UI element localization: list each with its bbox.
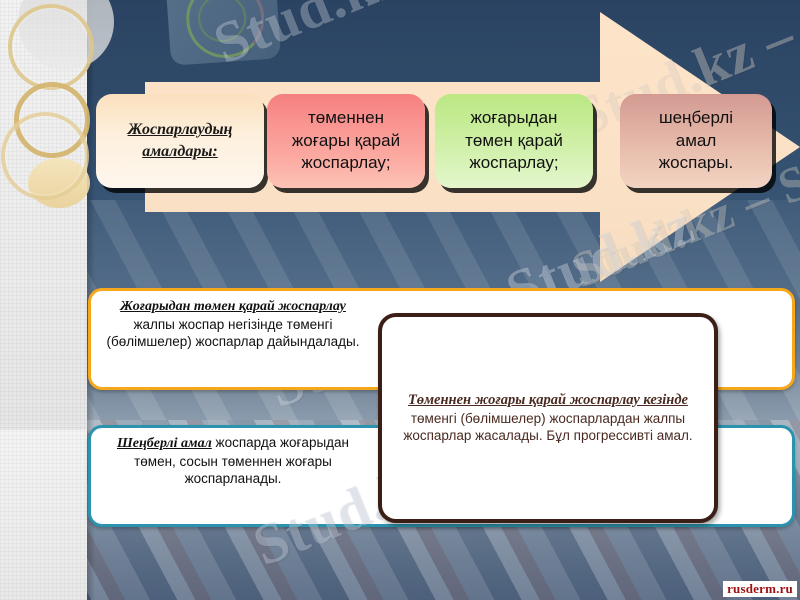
top-box-planning-methods-title[interactable]: Жоспарлаудыңамалдары: [96,94,264,188]
top-box-label: жоғарыдантөмен қарайжоспарлау; [443,107,585,174]
top-box-circular-planning[interactable]: шеңберліамалжоспары. [620,94,772,188]
panel-lead-term: Төменнен жоғары қарай жоспарлау кезінде [408,392,688,408]
panel-lead-term: Жоғарыдан төмен қарай жоспарлау [120,299,346,314]
panel-text: Төменнен жоғары қарай жоспарлау кезінде … [382,391,714,445]
panel-text: Жоғарыдан төмен қарай жоспарлау жалпы жо… [99,297,367,350]
decorative-ring-3 [1,112,89,200]
slide-canvas: Stud.kz Stud.kz – Stud.kz Stud.kz – Stud… [0,0,800,600]
top-box-label: шеңберліамалжоспары. [628,107,764,174]
decorative-ring-1 [8,4,94,90]
top-box-label: Жоспарлаудыңамалдары: [104,119,256,162]
top-box-label: төменненжоғары қарайжоспарлау; [275,107,417,174]
panel-text: Шеңберлі амал жоспарда жоғарыдан төмен, … [99,434,367,487]
panel-body-text: жалпы жоспар негізінде төменгі (бөлімшел… [107,317,360,349]
panel-lead-term: Шеңберлі амал [117,436,212,451]
left-texture-panel-lower [0,430,87,600]
panel-bottom-up-description[interactable]: Төменнен жоғары қарай жоспарлау кезінде … [378,313,718,523]
top-box-bottom-up-planning[interactable]: төменненжоғары қарайжоспарлау; [267,94,425,188]
top-box-top-down-planning[interactable]: жоғарыдантөмен қарайжоспарлау; [435,94,593,188]
site-watermark: rusderm.ru [723,581,797,597]
panel-body-text: төменгі (бөлімшелер) жоспарлардан жалпы … [403,411,692,444]
